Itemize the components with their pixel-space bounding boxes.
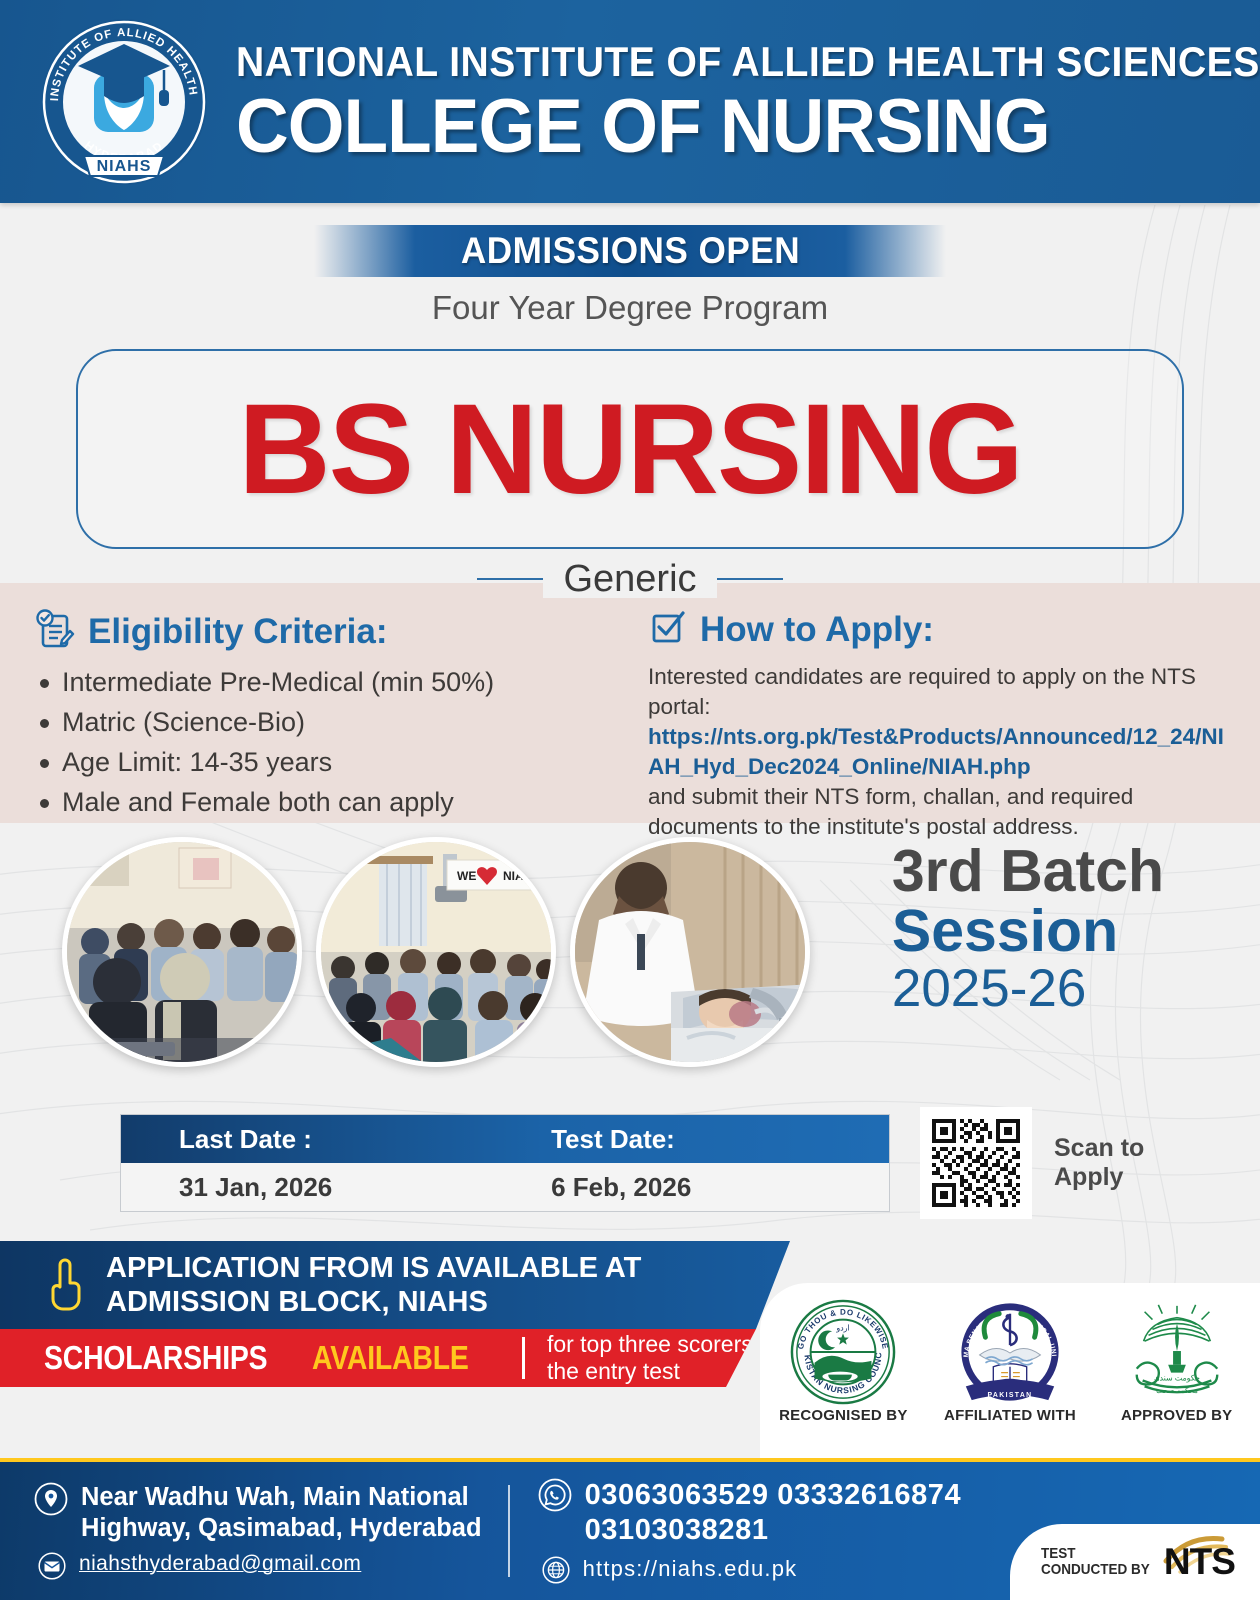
eligibility-item: Matric (Science-Bio): [32, 706, 612, 739]
scholarship-divider: [522, 1337, 525, 1379]
institute-email[interactable]: niahsthyderabad@gmail.com: [79, 1552, 361, 1576]
nts-logo-text: NTS: [1164, 1541, 1235, 1582]
accreditation-caption: RECOGNISED BY: [768, 1407, 918, 1424]
accreditation-caption: AFFILIATED WITH: [935, 1407, 1085, 1424]
admissions-open-banner: ADMISSIONS OPEN: [0, 225, 1260, 277]
scholarships-word: SCHOLARSHIPS: [44, 1339, 267, 1377]
contact-column: 03063063529 03332616874 03103038281 http…: [538, 1478, 962, 1585]
test-date-value: 6 Feb, 2026: [551, 1172, 889, 1203]
svg-text:NIAHS: NIAHS: [503, 869, 540, 883]
program-title-box: BS NURSING: [76, 349, 1184, 549]
admission-poster: NATIONAL INSTITUTE OF ALLIED HEALTH SCIE…: [0, 0, 1260, 1600]
institute-website[interactable]: https://niahs.edu.pk: [583, 1556, 798, 1582]
checkbox-checked-icon: [648, 607, 688, 652]
svg-text:محکمہ صحت: محکمہ صحت: [1156, 1386, 1198, 1395]
info-band: Eligibility Criteria: Intermediate Pre-M…: [0, 583, 1260, 823]
session-years: 2025-26: [892, 961, 1164, 1017]
accreditation-item-smbbmu: SHAHEED MOHTARMA BENAZIR BHUTTO MEDICAL …: [935, 1297, 1085, 1424]
admissions-open-label: ADMISSIONS OPEN: [460, 230, 799, 272]
batch-info: 3rd Batch Session 2025-26: [892, 841, 1164, 1017]
contact-phones: 03063063529 03332616874 03103038281: [585, 1478, 962, 1549]
how-to-apply-section: How to Apply: Interested candidates are …: [612, 607, 1228, 823]
svg-text:WE: WE: [457, 869, 476, 883]
application-line-1: APPLICATION FROM IS AVAILABLE AT: [106, 1251, 641, 1285]
svg-text:اردو: اردو: [836, 1323, 850, 1332]
whatsapp-icon: [538, 1478, 572, 1512]
apply-intro: Interested candidates are required to ap…: [648, 664, 1196, 719]
divider-left: [477, 578, 543, 580]
svg-text:NIAHS: NIAHS: [97, 158, 152, 175]
last-date-value: 31 Jan, 2026: [121, 1172, 551, 1203]
pakistan-nursing-council-logo: GO THOU & DO LIKEWISE PAKISTAN NURSING C…: [768, 1297, 918, 1407]
dates-table: Last Date : Test Date: 31 Jan, 2026 6 Fe…: [120, 1114, 890, 1212]
government-of-sindh-logo: حکومت سندھ محکمہ صحت: [1102, 1297, 1252, 1407]
institute-logo: NATIONAL INSTITUTE OF ALLIED HEALTH SCIE…: [38, 16, 210, 188]
eligibility-item: Intermediate Pre-Medical (min 50%): [32, 666, 612, 699]
institute-name: NATIONAL INSTITUTE OF ALLIED HEALTH SCIE…: [236, 38, 1260, 86]
program-title: BS NURSING: [238, 376, 1022, 523]
test-date-header: Test Date:: [551, 1124, 889, 1155]
footer-divider: [508, 1485, 510, 1577]
program-variant: Generic: [543, 560, 716, 598]
scan-to-apply-label: Scan to Apply: [1054, 1134, 1144, 1193]
photo-classroom-students: [62, 837, 302, 1067]
svg-text:حکومت سندھ: حکومت سندھ: [1154, 1373, 1200, 1382]
photo-lecture-hall: WE NIAHS: [316, 837, 556, 1067]
address-column: Near Wadhu Wah, Main National Highway, Q…: [34, 1482, 482, 1579]
nts-portal-url[interactable]: https://nts.org.pk/Test&Products/Announc…: [648, 722, 1228, 782]
dates-header-row: Last Date : Test Date:: [121, 1115, 889, 1163]
gallery-and-batch: WE NIAHS: [0, 823, 1260, 1093]
accreditation-item-govt-sindh: حکومت سندھ محکمہ صحت APPROVED BY: [1102, 1297, 1252, 1424]
accreditation-caption: APPROVED BY: [1102, 1407, 1252, 1424]
eligibility-heading: Eligibility Criteria:: [88, 612, 388, 652]
nts-badge: TEST CONDUCTED BY NTS: [1010, 1524, 1260, 1600]
eligibility-item: Male and Female both can apply: [32, 786, 612, 819]
application-line-2: ADMISSION BLOCK, NIAHS: [106, 1285, 641, 1319]
poster-footer: Near Wadhu Wah, Main National Highway, Q…: [0, 1458, 1260, 1600]
envelope-icon: [38, 1552, 66, 1580]
program-subtitle: Four Year Degree Program: [0, 289, 1260, 327]
eligibility-item: Age Limit: 14-35 years: [32, 746, 612, 779]
poster-header: NATIONAL INSTITUTE OF ALLIED HEALTH SCIE…: [0, 0, 1260, 203]
photo-skills-lab: [570, 837, 810, 1067]
dates-value-row: 31 Jan, 2026 6 Feb, 2026: [121, 1163, 889, 1211]
program-variant-row: Generic: [0, 560, 1260, 598]
pointing-hand-icon: [44, 1257, 90, 1313]
accreditation-item-pnc: GO THOU & DO LIKEWISE PAKISTAN NURSING C…: [768, 1297, 918, 1424]
photo-gallery: WE NIAHS: [62, 837, 810, 1067]
batch-number: 3rd Batch: [892, 841, 1164, 901]
eligibility-section: Eligibility Criteria: Intermediate Pre-M…: [32, 607, 612, 823]
qr-block: Scan to Apply: [920, 1107, 1144, 1219]
how-to-apply-heading: How to Apply:: [700, 610, 934, 650]
svg-text:PAKISTAN: PAKISTAN: [987, 1392, 1032, 1399]
last-date-header: Last Date :: [121, 1124, 551, 1155]
institute-address: Near Wadhu Wah, Main National Highway, Q…: [81, 1482, 482, 1543]
globe-icon: [542, 1556, 570, 1584]
scholarship-note: for top three scorers in the entry test: [547, 1331, 777, 1385]
session-label: Session: [892, 901, 1164, 961]
clipboard-check-icon: [32, 607, 76, 656]
available-word: AVAILABLE: [312, 1339, 469, 1377]
qr-code[interactable]: [920, 1107, 1032, 1219]
nts-label: TEST CONDUCTED BY: [1041, 1546, 1150, 1578]
dates-row: Last Date : Test Date: 31 Jan, 2026 6 Fe…: [0, 1107, 1260, 1219]
smbbmu-logo: SHAHEED MOHTARMA BENAZIR BHUTTO MEDICAL …: [935, 1297, 1085, 1407]
divider-right: [717, 578, 783, 580]
location-pin-icon: [34, 1482, 68, 1516]
accreditation-panel: GO THOU & DO LIKEWISE PAKISTAN NURSING C…: [760, 1283, 1260, 1458]
eligibility-list: Intermediate Pre-Medical (min 50%) Matri…: [32, 666, 612, 819]
college-name: COLLEGE OF NURSING: [236, 88, 1260, 166]
